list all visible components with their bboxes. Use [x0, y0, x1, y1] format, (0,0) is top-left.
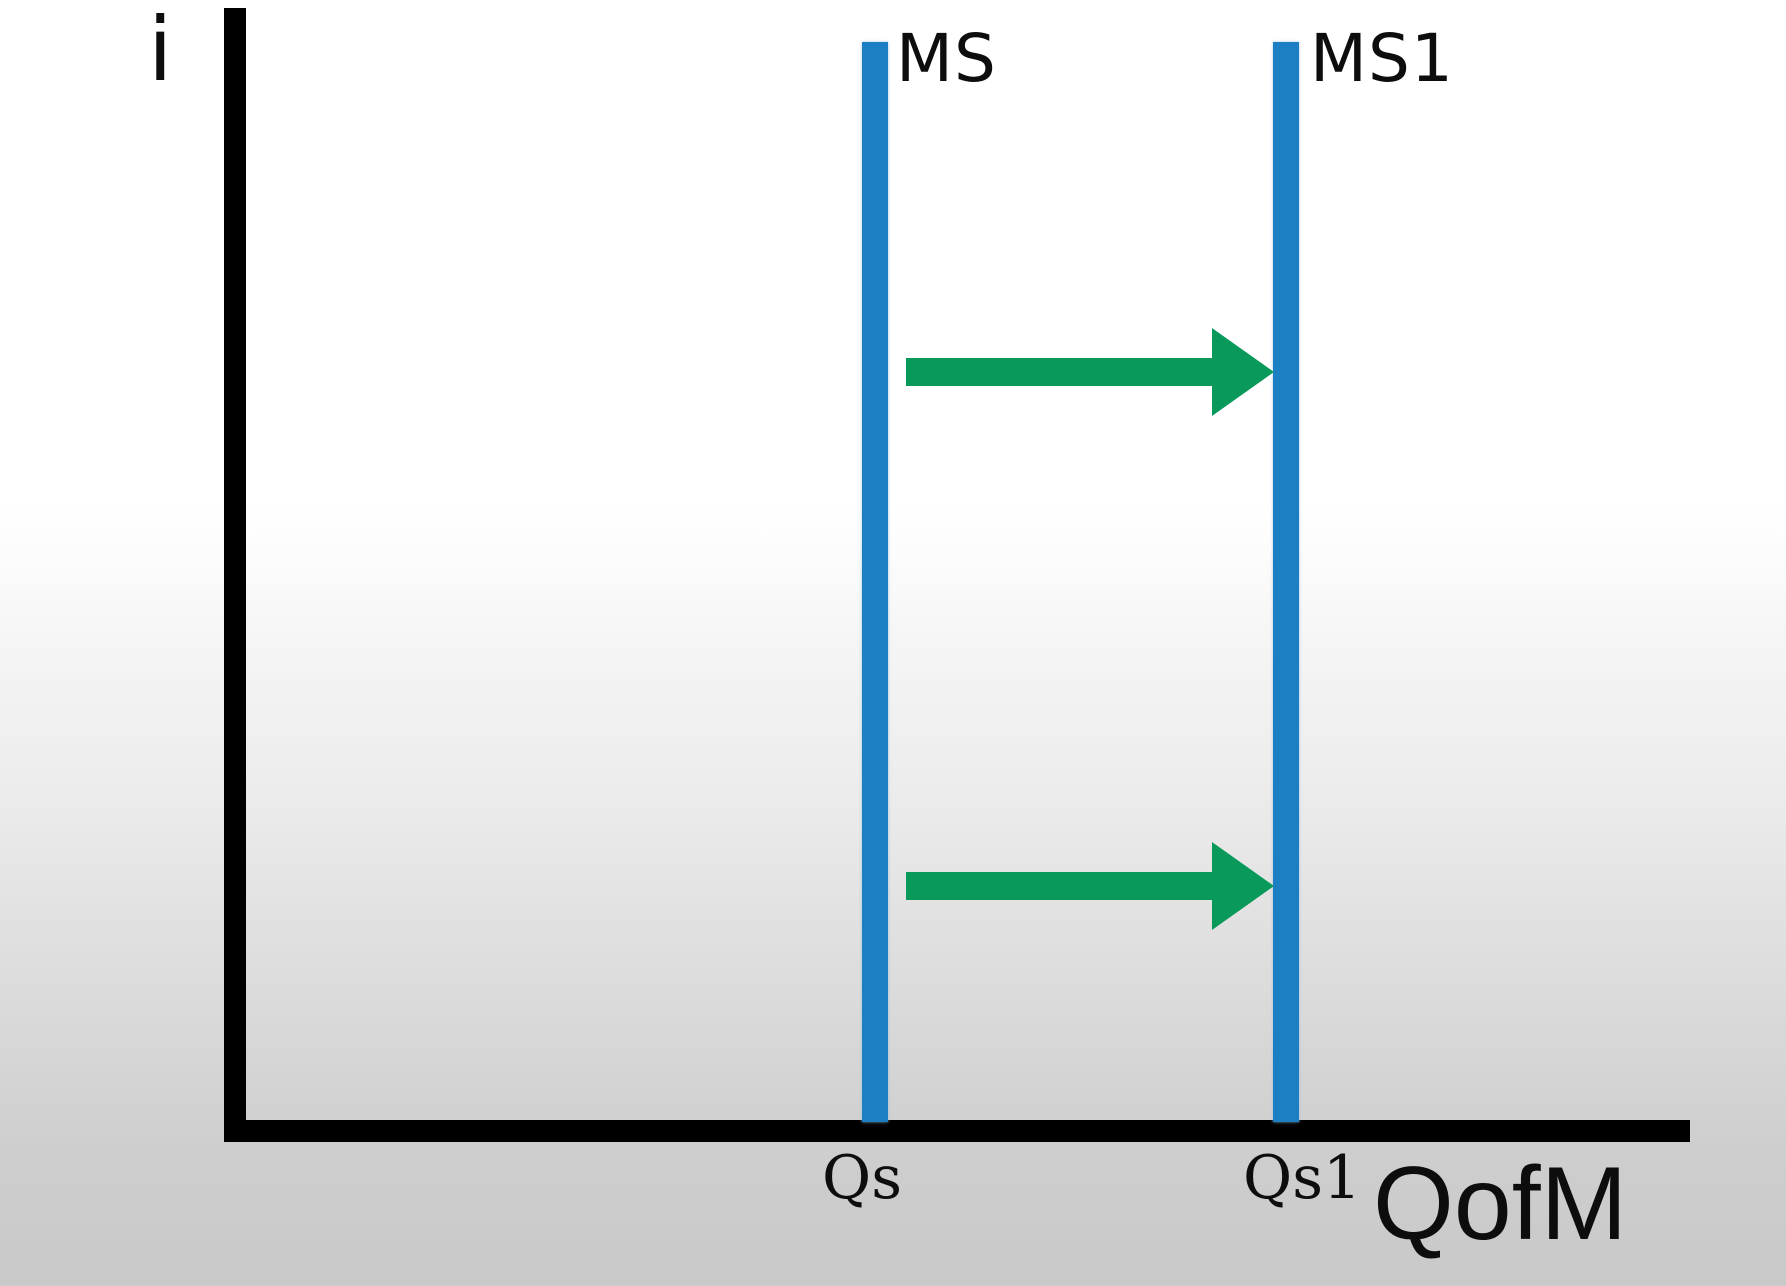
x-axis-label: QofM	[1373, 1152, 1627, 1256]
x-tick-label-qs1: Qs1	[1243, 1148, 1361, 1208]
curve-label-ms1: MS1	[1310, 26, 1454, 92]
money-supply-diagram: i MS MS1 Qs Qs1 QofM	[0, 0, 1786, 1286]
money-supply-curve-ms1	[1273, 42, 1299, 1122]
y-axis-line	[224, 8, 246, 1142]
curve-label-ms: MS	[896, 26, 997, 92]
shift-arrow-bottom-icon	[900, 836, 1280, 936]
x-tick-label-qs: Qs	[822, 1148, 902, 1208]
shift-arrow-top-icon	[900, 322, 1280, 422]
x-axis-line	[233, 1120, 1690, 1142]
y-axis-label: i	[148, 6, 172, 94]
money-supply-curve-ms	[862, 42, 888, 1122]
